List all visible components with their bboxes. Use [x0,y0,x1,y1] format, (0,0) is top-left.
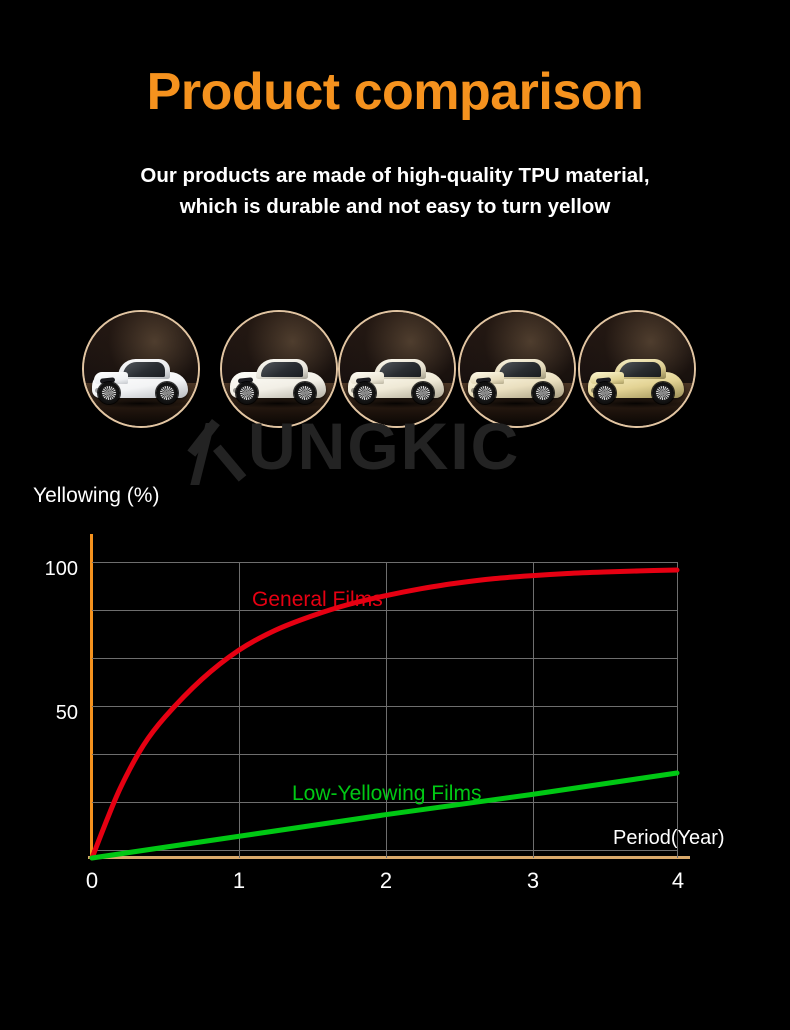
x-tick-label-4: 4 [658,868,698,894]
car-rear-wheel [412,382,434,404]
car-shape [466,354,568,406]
car-front-wheel [354,382,376,404]
car-shape [586,354,688,406]
page-subtitle: Our products are made of high-quality TP… [60,160,730,222]
watermark-text: UNGKIC [248,409,520,483]
gridline-vertical [677,562,678,858]
y-axis-title: Yellowing (%) [33,484,159,508]
car-sample-0 [82,310,200,428]
car-windshield [499,362,541,377]
x-tick-label-0: 0 [72,868,112,894]
car-shape [90,354,192,406]
series-label-low-yellowing-films: Low-Yellowing Films [292,782,481,806]
car-windshield [619,362,661,377]
product-comparison-poster: Product comparison Our products are made… [0,0,790,1030]
car-rear-wheel [294,382,316,404]
car-shape [228,354,330,406]
watermark-k-glyph [196,417,248,483]
x-tick-label-3: 3 [513,868,553,894]
y-tick-label-100: 100 [0,558,78,581]
car-front-wheel [474,382,496,404]
y-tick-label-50: 50 [0,702,78,725]
car-shape [346,354,448,406]
brand-watermark: UNGKIC [196,408,616,484]
car-windshield [261,362,303,377]
series-label-general-films: General Films [252,588,383,612]
car-windshield [123,362,165,377]
car-front-wheel [594,382,616,404]
series-curves [92,562,677,858]
subtitle-line-2: which is durable and not easy to turn ye… [60,191,730,222]
car-rear-wheel [156,382,178,404]
car-photo-0 [84,312,198,426]
car-rear-wheel [532,382,554,404]
x-tick-label-2: 2 [366,868,406,894]
subtitle-line-1: Our products are made of high-quality TP… [60,160,730,191]
page-title: Product comparison [0,62,790,122]
car-front-wheel [98,382,120,404]
x-tick-label-1: 1 [219,868,259,894]
car-rear-wheel [652,382,674,404]
yellowing-chart: Yellowing (%) 100 50 0 1 2 3 4 Period(Ye… [0,480,790,900]
plot-area: General Films Low-Yellowing Films [92,562,677,858]
car-windshield [379,362,421,377]
car-front-wheel [236,382,258,404]
